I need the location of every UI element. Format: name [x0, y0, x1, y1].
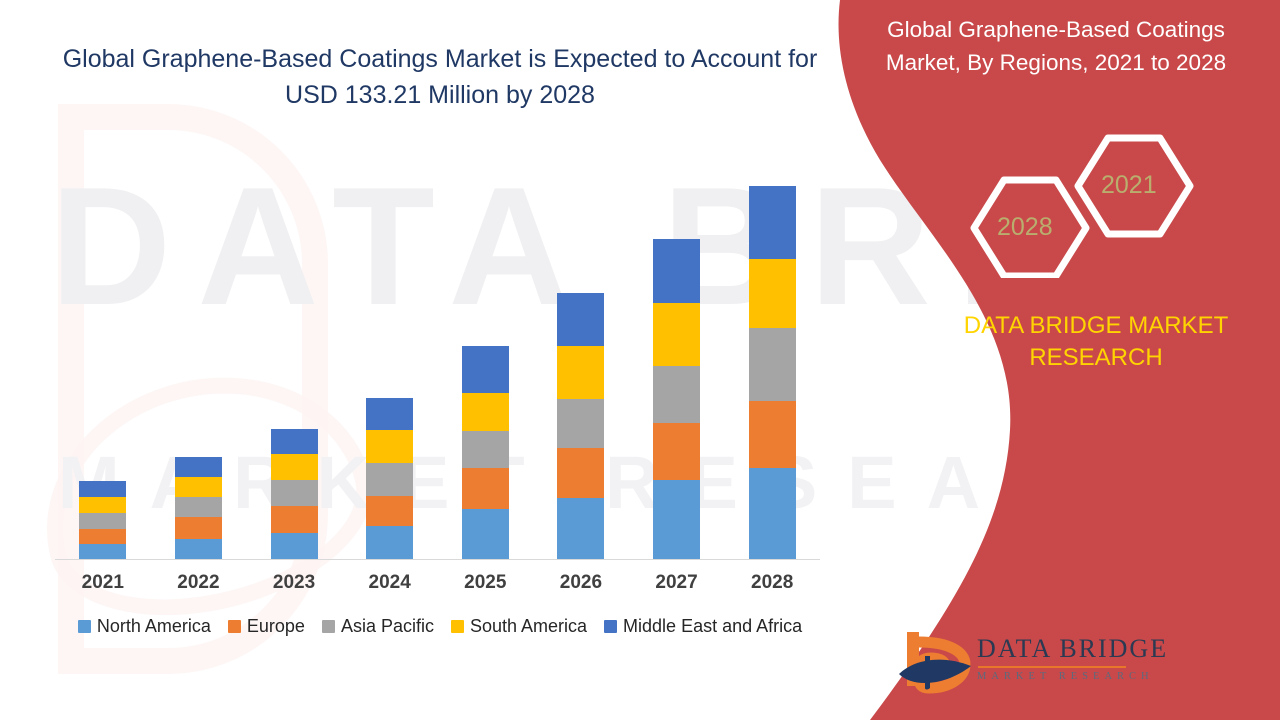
- legend-item-asia-pacific[interactable]: Asia Pacific: [322, 616, 434, 637]
- x-axis-label-2021: 2021: [55, 572, 150, 594]
- hexagon-2028-label: 2028: [997, 213, 1053, 242]
- legend-swatch-icon: [604, 620, 617, 633]
- x-axis-line: [55, 559, 820, 560]
- chart-legend: North AmericaEuropeAsia PacificSouth Ame…: [55, 616, 825, 637]
- legend-item-north-america[interactable]: North America: [78, 616, 211, 637]
- bar-segment-middle-east-and-africa[interactable]: [749, 186, 796, 259]
- logo-wordmark: DATA BRIDGE MARKET RESEARCH: [977, 634, 1168, 682]
- bar-segment-north-america[interactable]: [557, 498, 604, 559]
- bar-segment-europe[interactable]: [79, 529, 126, 544]
- bar-segment-europe[interactable]: [653, 423, 700, 480]
- bar-segment-asia-pacific[interactable]: [653, 366, 700, 423]
- bar-group-2022: [151, 151, 246, 559]
- stacked-bar[interactable]: [79, 481, 126, 559]
- bar-segment-south-america[interactable]: [557, 346, 604, 399]
- bar-segment-north-america[interactable]: [749, 468, 796, 559]
- x-axis-label-2022: 2022: [151, 572, 246, 594]
- bar-segment-south-america[interactable]: [366, 430, 413, 463]
- legend-item-south-america[interactable]: South America: [451, 616, 587, 637]
- stacked-bar[interactable]: [462, 346, 509, 559]
- panel-title: Global Graphene-Based Coatings Market, B…: [856, 14, 1256, 79]
- x-axis-label-2026: 2026: [533, 572, 628, 594]
- bar-group-2024: [342, 151, 437, 559]
- bar-segment-middle-east-and-africa[interactable]: [271, 429, 318, 454]
- x-axis-label-2028: 2028: [725, 572, 820, 594]
- bar-segment-europe[interactable]: [749, 401, 796, 468]
- bar-group-2027: [629, 151, 724, 559]
- bar-segment-south-america[interactable]: [462, 393, 509, 431]
- bar-segment-asia-pacific[interactable]: [366, 463, 413, 496]
- x-axis-label-2027: 2027: [629, 572, 724, 594]
- bar-group-2028: [725, 151, 820, 559]
- bar-segment-asia-pacific[interactable]: [749, 328, 796, 401]
- bar-segment-europe[interactable]: [175, 517, 222, 539]
- infographic-page: DATA BRIDGE MARKET RESEARCH Global Graph…: [0, 0, 1280, 720]
- bar-segment-middle-east-and-africa[interactable]: [653, 239, 700, 303]
- stacked-bar[interactable]: [271, 429, 318, 559]
- bar-segment-south-america[interactable]: [749, 259, 796, 328]
- bar-segment-asia-pacific[interactable]: [175, 497, 222, 517]
- bar-group-2025: [438, 151, 533, 559]
- legend-label: Asia Pacific: [341, 616, 434, 637]
- bar-segment-middle-east-and-africa[interactable]: [366, 398, 413, 430]
- hexagon-2021-label: 2021: [1101, 171, 1157, 200]
- bar-segment-middle-east-and-africa[interactable]: [175, 457, 222, 477]
- bar-segment-north-america[interactable]: [462, 509, 509, 559]
- bar-segment-north-america[interactable]: [271, 533, 318, 559]
- bar-segment-north-america[interactable]: [175, 539, 222, 559]
- legend-swatch-icon: [228, 620, 241, 633]
- logo-main-text: DATA BRIDGE: [977, 634, 1168, 664]
- legend-label: North America: [97, 616, 211, 637]
- year-hexagons: 2021 2028: [960, 128, 1200, 278]
- bar-segment-europe[interactable]: [271, 506, 318, 533]
- legend-label: South America: [470, 616, 587, 637]
- legend-label: Middle East and Africa: [623, 616, 802, 637]
- brand-name: DATA BRIDGE MARKET RESEARCH: [946, 310, 1246, 375]
- stacked-bar[interactable]: [366, 398, 413, 559]
- bar-group-2026: [533, 151, 628, 559]
- bar-segment-europe[interactable]: [557, 448, 604, 498]
- x-axis-labels: 20212022202320242025202620272028: [55, 572, 820, 594]
- bar-segment-middle-east-and-africa[interactable]: [79, 481, 126, 497]
- x-axis-label-2024: 2024: [342, 572, 437, 594]
- hexagon-outlines-icon: [960, 128, 1200, 278]
- bar-group-2021: [55, 151, 150, 559]
- legend-item-middle-east-and-africa[interactable]: Middle East and Africa: [604, 616, 802, 637]
- bar-segment-north-america[interactable]: [653, 480, 700, 559]
- stacked-bar[interactable]: [175, 457, 222, 559]
- x-axis-label-2023: 2023: [247, 572, 342, 594]
- bar-segment-asia-pacific[interactable]: [462, 431, 509, 468]
- logo-divider: [978, 666, 1126, 668]
- bar-segment-middle-east-and-africa[interactable]: [557, 293, 604, 346]
- databridge-logo: DATA BRIDGE MARKET RESEARCH: [895, 626, 1120, 698]
- databridge-b-swoosh-icon: [895, 626, 977, 694]
- bar-segment-middle-east-and-africa[interactable]: [462, 346, 509, 393]
- legend-label: Europe: [247, 616, 305, 637]
- page-title: Global Graphene-Based Coatings Market is…: [60, 42, 820, 113]
- legend-swatch-icon: [322, 620, 335, 633]
- legend-item-europe[interactable]: Europe: [228, 616, 305, 637]
- bar-segment-asia-pacific[interactable]: [79, 513, 126, 529]
- bar-segment-north-america[interactable]: [366, 526, 413, 559]
- bar-segment-europe[interactable]: [366, 496, 413, 526]
- bar-segment-south-america[interactable]: [79, 497, 126, 513]
- bar-group-2023: [247, 151, 342, 559]
- bar-segment-south-america[interactable]: [271, 454, 318, 480]
- bar-segment-south-america[interactable]: [653, 303, 700, 366]
- legend-swatch-icon: [78, 620, 91, 633]
- stacked-bar[interactable]: [557, 293, 604, 559]
- bar-segment-south-america[interactable]: [175, 477, 222, 497]
- x-axis-label-2025: 2025: [438, 572, 533, 594]
- stacked-bar[interactable]: [749, 186, 796, 559]
- stacked-bar[interactable]: [653, 239, 700, 559]
- chart-plot-area: [55, 150, 820, 560]
- logo-sub-text: MARKET RESEARCH: [977, 671, 1168, 682]
- legend-swatch-icon: [451, 620, 464, 633]
- bar-segment-europe[interactable]: [462, 468, 509, 509]
- bar-segment-north-america[interactable]: [79, 544, 126, 559]
- bar-segment-asia-pacific[interactable]: [271, 480, 318, 506]
- stacked-bars: [55, 151, 820, 559]
- bar-segment-asia-pacific[interactable]: [557, 399, 604, 448]
